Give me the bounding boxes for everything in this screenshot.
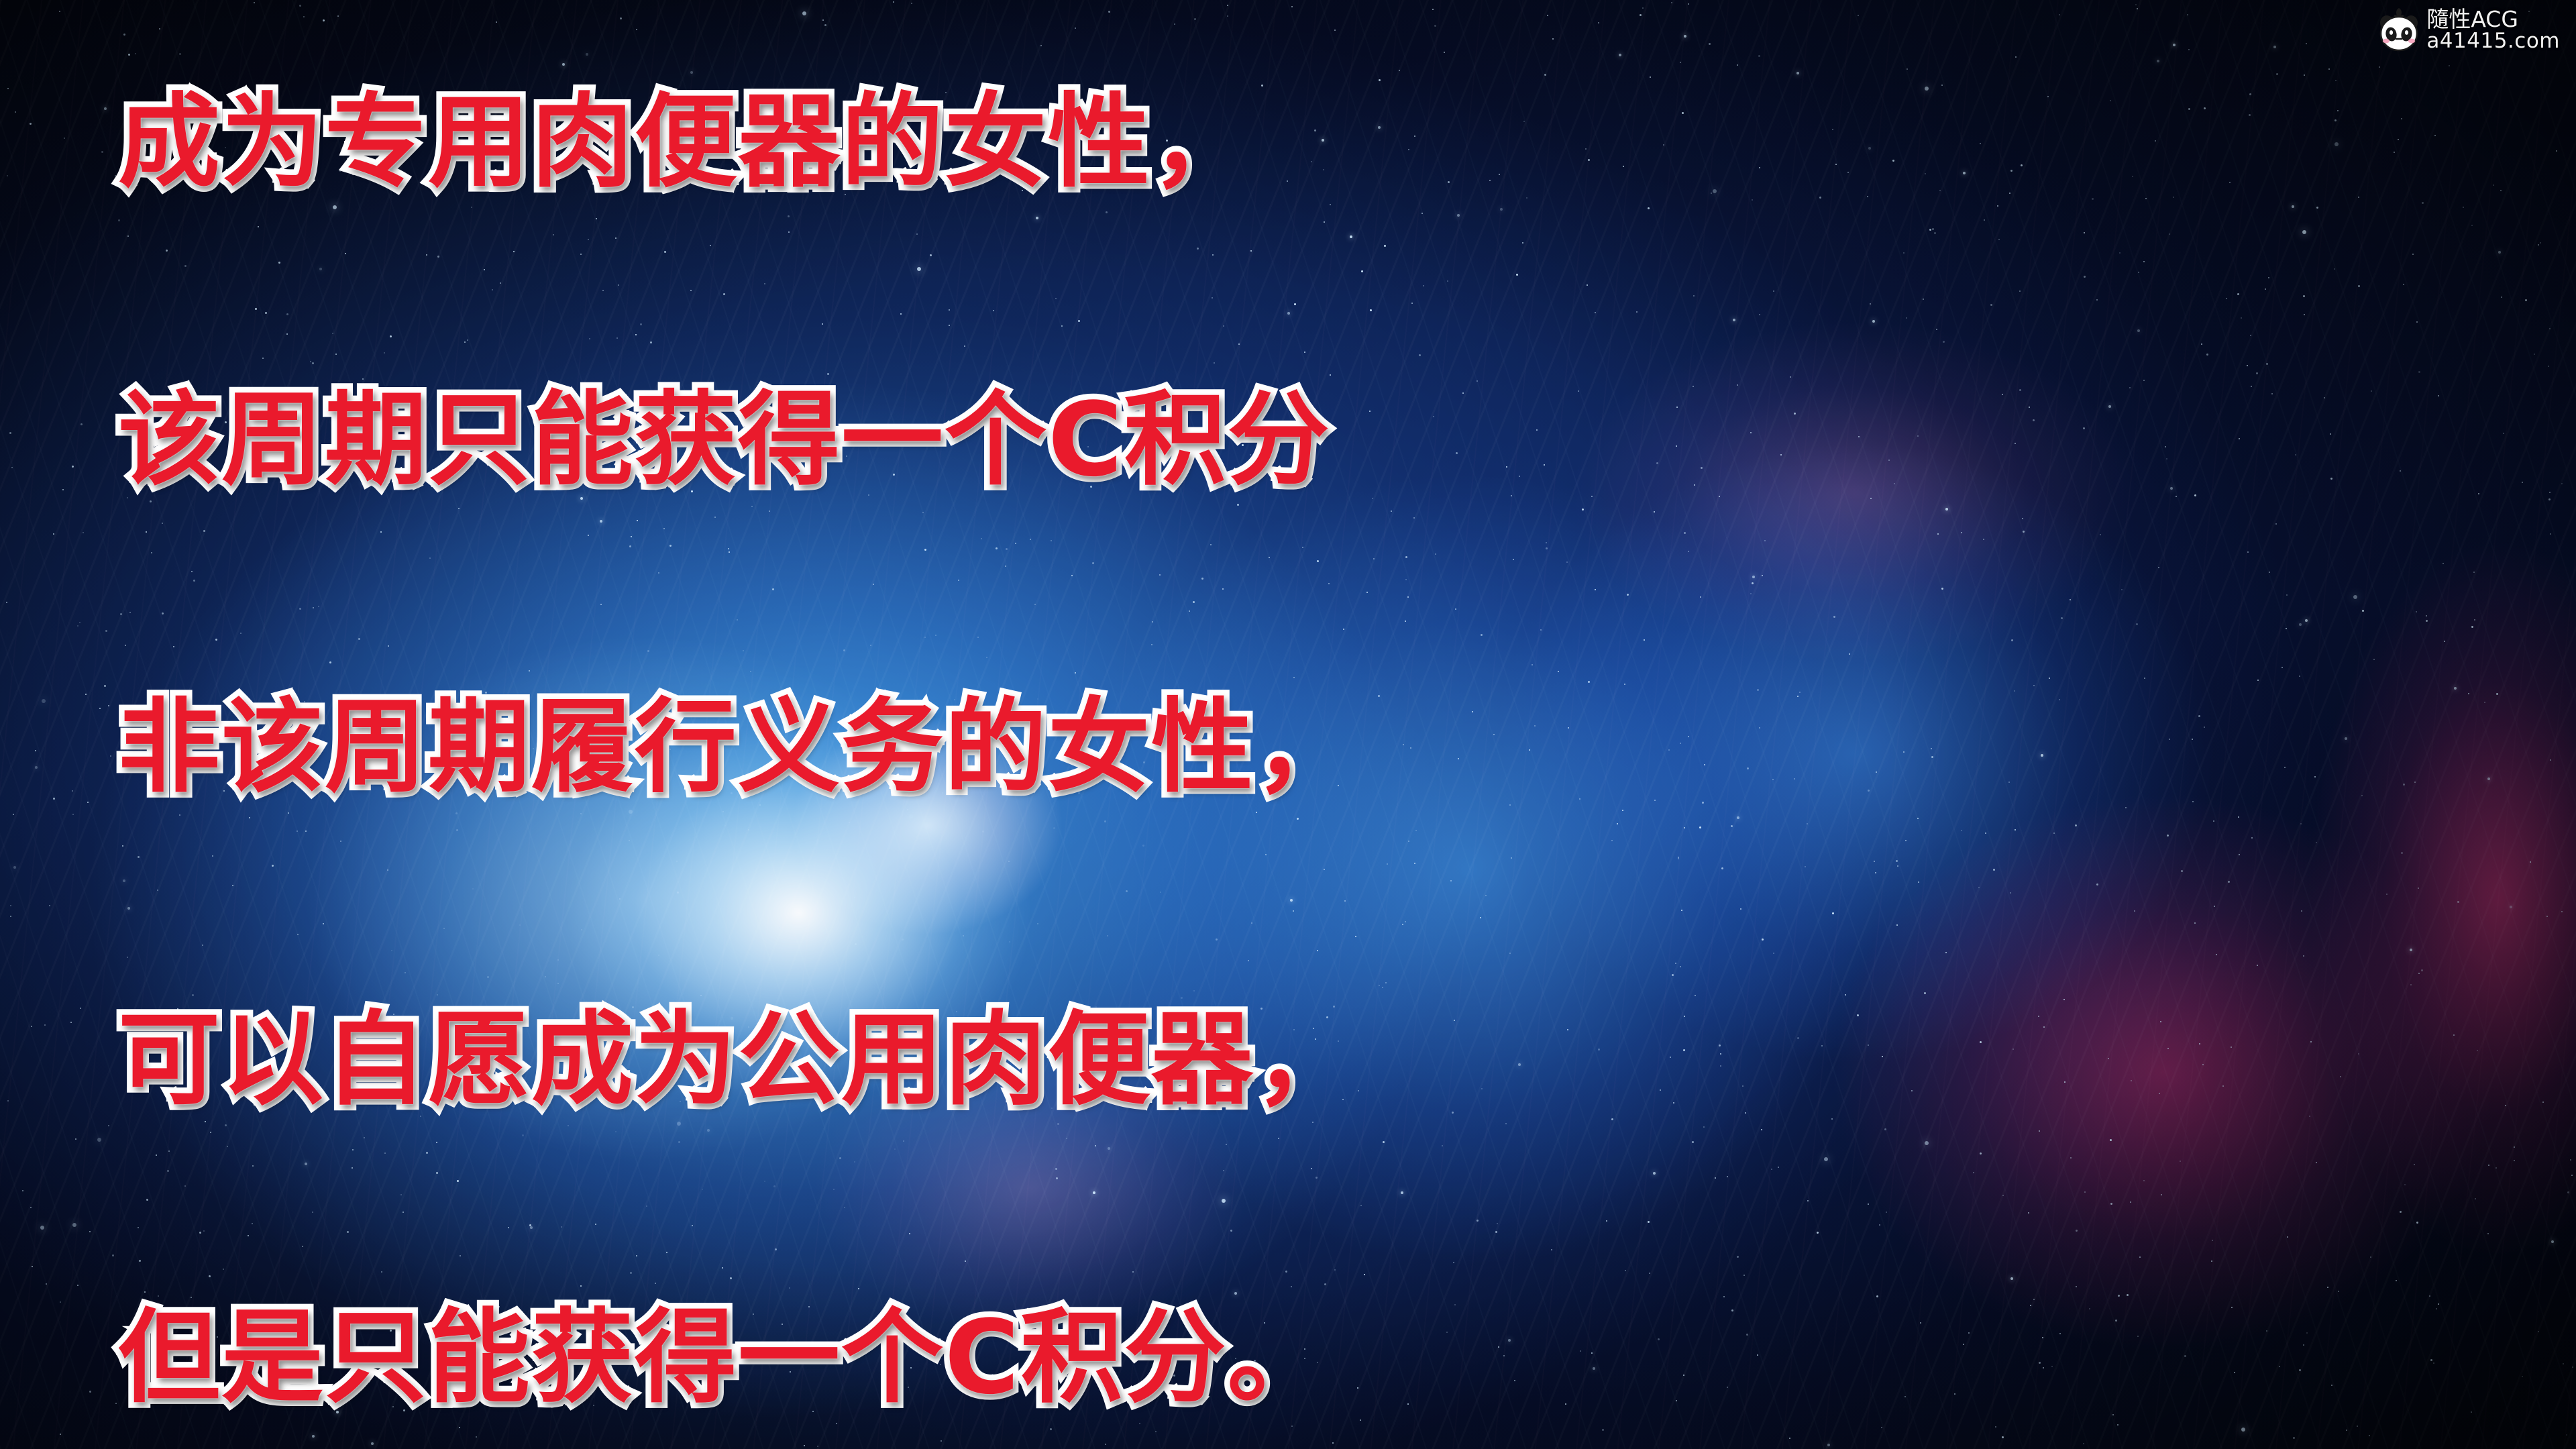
star [2463, 207, 2464, 208]
star [2414, 1164, 2415, 1165]
star [32, 1266, 33, 1267]
star [2548, 366, 2549, 367]
star [2306, 43, 2307, 44]
star [2328, 68, 2330, 70]
star [15, 111, 16, 113]
star [115, 175, 116, 176]
star [2538, 1331, 2539, 1332]
star [2271, 393, 2273, 394]
star [31, 1026, 32, 1027]
star [2310, 1041, 2312, 1042]
star [2403, 284, 2404, 285]
star [2161, 1194, 2162, 1195]
star [2487, 777, 2490, 780]
star [2292, 205, 2294, 208]
star [2416, 611, 2417, 612]
star [2540, 242, 2541, 244]
star [22, 1190, 23, 1191]
star [2249, 93, 2251, 95]
star [2167, 835, 2169, 837]
star [2282, 667, 2283, 668]
star [2268, 277, 2269, 278]
subtitle-block: 成为专用肉便器的女性， 该周期只能获得一个C积分 非该周期履行义务的女性， 可以… [118, 0, 2131, 1449]
star [2194, 922, 2196, 924]
star [30, 123, 32, 125]
star [2131, 1080, 2132, 1081]
star [2386, 894, 2387, 895]
star [77, 625, 78, 627]
star [2500, 190, 2502, 191]
star [2422, 202, 2424, 204]
star [2184, 1355, 2186, 1357]
star [2212, 1240, 2213, 1241]
star [10, 905, 11, 906]
star [2495, 1167, 2497, 1169]
star [89, 1391, 91, 1393]
star [2216, 954, 2217, 955]
star [2234, 1372, 2235, 1373]
star [2550, 533, 2551, 535]
star [2400, 470, 2401, 472]
star [2327, 1287, 2328, 1288]
star [7, 175, 8, 176]
star [2194, 494, 2196, 496]
star [2444, 641, 2445, 642]
panda-head-icon [2378, 5, 2420, 55]
star [2530, 861, 2531, 863]
star [2132, 176, 2133, 177]
star [2173, 197, 2174, 198]
star [2169, 233, 2170, 235]
star [2143, 1180, 2145, 1181]
star [83, 532, 84, 533]
subtitle-line-4: 可以自愿成为公用肉便器， [118, 1009, 1358, 1111]
star [101, 151, 103, 153]
star [2401, 118, 2402, 119]
star [2421, 969, 2423, 971]
star [2300, 823, 2302, 824]
star [49, 905, 50, 906]
star [2379, 66, 2380, 68]
star [2199, 1043, 2200, 1044]
star [2334, 268, 2335, 270]
star [2299, 676, 2300, 677]
star [2187, 14, 2188, 15]
star [6, 602, 7, 603]
star [2453, 1034, 2455, 1036]
star [2160, 1021, 2161, 1022]
watermark-brand: 隨性ACG [2426, 8, 2560, 31]
star [2257, 680, 2259, 681]
star [2488, 1165, 2489, 1166]
star [13, 866, 16, 869]
star [2418, 973, 2420, 974]
star [80, 1008, 81, 1009]
star [2324, 397, 2325, 398]
star [2202, 1064, 2204, 1065]
star [2416, 1222, 2418, 1224]
star [2266, 363, 2268, 365]
star [2357, 1426, 2358, 1427]
star [2176, 496, 2177, 497]
star [7, 1100, 9, 1102]
star [2358, 1053, 2359, 1055]
star [2137, 8, 2138, 9]
star [2266, 1330, 2267, 1332]
star [2303, 295, 2305, 297]
star [2304, 74, 2305, 76]
star [80, 423, 83, 425]
star [2561, 911, 2563, 912]
star [59, 11, 60, 12]
star [35, 766, 38, 769]
star [2549, 492, 2551, 493]
star [40, 1226, 44, 1230]
star [2337, 110, 2339, 111]
star [2265, 288, 2266, 290]
star [2251, 837, 2253, 839]
star [2418, 888, 2419, 889]
star [2438, 1303, 2439, 1305]
star [2301, 910, 2302, 912]
star [2238, 816, 2239, 818]
star [2250, 335, 2251, 336]
screenshot-frame: 成为专用肉便器的女性， 该周期只能获得一个C积分 非该周期履行义务的女性， 可以… [0, 0, 2576, 1449]
star [2304, 314, 2305, 315]
star [2394, 152, 2395, 153]
star [2572, 1366, 2573, 1368]
star [2213, 820, 2214, 822]
star [2369, 1435, 2370, 1436]
star [2361, 795, 2363, 796]
star [30, 1207, 32, 1208]
star [2438, 395, 2439, 396]
star [46, 1283, 47, 1285]
star [2144, 678, 2145, 679]
star [9, 432, 11, 434]
star [2416, 321, 2418, 323]
star [2396, 1280, 2397, 1281]
star [53, 533, 54, 535]
star [2173, 44, 2176, 46]
star [2484, 702, 2485, 703]
star [2358, 197, 2359, 198]
star [2226, 298, 2227, 299]
star [2471, 225, 2473, 226]
star [2157, 60, 2159, 62]
star [2247, 365, 2248, 366]
star [75, 1138, 76, 1140]
star [2525, 299, 2527, 301]
star [2334, 142, 2339, 146]
star [60, 1301, 61, 1303]
subtitle-line-5: 但是只能获得一个C积分。 [118, 1307, 1331, 1409]
star [2474, 619, 2475, 621]
star [85, 694, 87, 695]
star [2434, 135, 2436, 136]
star [2534, 354, 2535, 355]
star [105, 630, 107, 632]
star [108, 705, 109, 706]
star [2514, 1160, 2515, 1161]
star [72, 466, 74, 468]
star [2257, 965, 2258, 966]
star [2222, 1085, 2224, 1087]
star [2204, 107, 2206, 109]
star [2436, 1308, 2437, 1309]
star [2414, 782, 2416, 783]
star [2334, 119, 2337, 121]
star [2316, 207, 2318, 209]
star [2570, 1159, 2571, 1161]
star [2134, 910, 2135, 912]
star [2231, 1046, 2232, 1048]
star [2286, 594, 2288, 596]
star [2371, 390, 2372, 392]
star [2159, 1093, 2160, 1094]
star [2256, 372, 2258, 374]
star [2214, 906, 2215, 907]
star [2293, 1437, 2295, 1439]
star [2404, 1184, 2406, 1185]
star [2358, 285, 2360, 287]
star [2403, 784, 2405, 786]
star [2475, 1198, 2476, 1199]
star [2241, 1428, 2245, 1432]
star [2206, 354, 2208, 356]
star [2449, 65, 2450, 66]
star [2454, 687, 2457, 690]
star [2429, 1295, 2430, 1297]
star [2401, 852, 2403, 854]
star [2180, 1161, 2181, 1162]
star [2239, 854, 2240, 855]
star [2487, 1233, 2489, 1234]
subtitle-line-1: 成为专用肉便器的女性， [118, 91, 1254, 193]
star [2548, 498, 2551, 500]
star [2338, 1291, 2339, 1292]
watermark-text: 隨性ACG a41415.com [2426, 8, 2560, 52]
star [2410, 949, 2412, 951]
star [2138, 272, 2139, 273]
star [99, 708, 101, 709]
star [2330, 478, 2332, 480]
star [2251, 386, 2252, 387]
star [2269, 572, 2270, 573]
star [2169, 739, 2170, 740]
star [115, 1403, 117, 1404]
star [2139, 1256, 2141, 1258]
star [2514, 1146, 2515, 1148]
star [60, 1434, 61, 1435]
star [2295, 454, 2296, 455]
star [87, 802, 89, 803]
star [2550, 759, 2551, 761]
star [2284, 767, 2286, 768]
star [2316, 1162, 2317, 1163]
star [89, 1231, 91, 1232]
star [2330, 433, 2331, 435]
star [2192, 739, 2193, 740]
star [2299, 623, 2302, 626]
star [72, 790, 73, 792]
star [2201, 343, 2202, 345]
star [2410, 984, 2412, 985]
star [2496, 693, 2498, 695]
star [2457, 901, 2459, 903]
star [2204, 727, 2205, 728]
star [2145, 198, 2147, 199]
star [2433, 1362, 2434, 1364]
watermark-domain: a41415.com [2426, 31, 2560, 52]
star [2137, 329, 2140, 332]
star [2276, 73, 2278, 75]
star [2345, 737, 2347, 740]
subtitle-line-3: 非该周期履行义务的女性， [118, 696, 1358, 798]
star [2211, 1260, 2212, 1262]
star [64, 138, 65, 139]
star [2549, 328, 2551, 329]
star [2299, 1369, 2301, 1371]
star [2309, 1116, 2310, 1117]
star [104, 107, 107, 110]
star [2303, 955, 2304, 957]
star [10, 916, 11, 917]
star [2477, 1050, 2478, 1051]
star [2418, 371, 2420, 373]
star [2471, 1411, 2472, 1413]
star [2567, 1191, 2569, 1193]
star [2143, 380, 2145, 381]
star [2314, 776, 2316, 777]
star [110, 755, 111, 757]
star [108, 1125, 109, 1126]
star [2563, 1363, 2564, 1364]
star [2275, 523, 2277, 525]
star [53, 798, 55, 800]
star [2493, 184, 2494, 186]
star [2510, 906, 2512, 908]
star [2181, 870, 2183, 872]
star [2370, 1256, 2371, 1258]
star [2443, 563, 2444, 564]
star [2192, 801, 2194, 802]
star [2241, 317, 2242, 319]
star [72, 814, 74, 815]
star [2362, 610, 2364, 612]
star [2302, 230, 2306, 234]
star [2556, 150, 2557, 152]
star [2231, 1307, 2233, 1308]
star [2167, 1048, 2169, 1049]
star [97, 1138, 101, 1142]
star [2239, 438, 2240, 439]
star [2571, 1175, 2573, 1176]
star [72, 1223, 76, 1227]
star [2286, 628, 2287, 629]
star [2503, 433, 2504, 434]
star [2316, 842, 2317, 843]
star [7, 88, 9, 89]
star [77, 1285, 78, 1286]
star [2249, 114, 2251, 116]
star [2143, 261, 2145, 262]
star [2155, 140, 2156, 142]
star [2398, 139, 2399, 140]
star [2166, 458, 2167, 460]
star [2340, 1076, 2341, 1077]
star [79, 622, 80, 623]
star [13, 814, 14, 815]
star [2137, 1336, 2139, 1337]
watermark: 隨性ACG a41415.com [2378, 5, 2560, 55]
star [2170, 487, 2173, 490]
star [2306, 1332, 2308, 1334]
star [2305, 619, 2308, 622]
star [2229, 182, 2231, 183]
star [2237, 293, 2239, 295]
star [2551, 1240, 2554, 1243]
star [104, 685, 106, 687]
star [2303, 1344, 2304, 1346]
star [2228, 881, 2230, 883]
star [2188, 49, 2190, 50]
star [2400, 1211, 2402, 1213]
star [2522, 482, 2523, 483]
star [2426, 620, 2428, 622]
star [2430, 1359, 2432, 1361]
star [2566, 1434, 2567, 1436]
star [62, 489, 64, 490]
star [2473, 572, 2475, 573]
star [2353, 595, 2357, 599]
star [2478, 493, 2479, 494]
star [2158, 567, 2159, 568]
star [2471, 626, 2473, 628]
star [11, 467, 13, 468]
star [44, 1024, 46, 1026]
star [2273, 46, 2276, 48]
star [2501, 297, 2502, 298]
star [2542, 1102, 2544, 1103]
star [2498, 251, 2501, 254]
star [2287, 1236, 2288, 1238]
star [2546, 916, 2548, 917]
star [42, 699, 46, 703]
star [2279, 1366, 2280, 1367]
star [35, 750, 36, 751]
star [2538, 244, 2539, 246]
star [2346, 1430, 2347, 1431]
star [2373, 659, 2375, 660]
star [2426, 615, 2427, 616]
star [2198, 715, 2200, 717]
star [2412, 254, 2414, 255]
star [2561, 483, 2563, 484]
star [70, 1022, 72, 1023]
subtitle-line-2: 该周期只能获得一个C积分 [118, 389, 1331, 491]
star [2188, 108, 2190, 110]
star [2247, 551, 2249, 553]
star [2468, 693, 2469, 694]
star [112, 1254, 114, 1256]
star [2331, 1385, 2332, 1386]
star [2136, 623, 2138, 625]
star [2522, 1376, 2523, 1377]
star [2505, 1105, 2506, 1106]
star [2165, 446, 2166, 447]
star [2335, 80, 2337, 81]
